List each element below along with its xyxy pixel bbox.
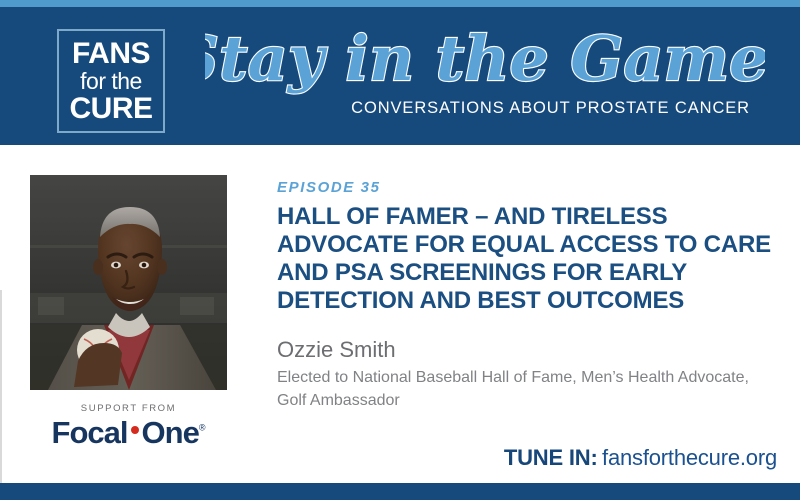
logo-line-one: FANS [72,39,150,69]
guest-description: Elected to National Baseball Hall of Fam… [277,367,757,412]
logo-line-two: for the [80,70,142,93]
sponsor-name-part-one: Focal [52,415,128,450]
tune-in-label: TUNE IN: [504,445,598,470]
sponsor-dot-icon [131,426,139,434]
content-body: SUPPORT FROM FocalOne® EPISODE 35 HALL O… [0,145,800,483]
left-border [0,290,2,500]
fans-for-the-cure-logo[interactable]: FANS for the CURE [57,29,165,133]
logo-line-three: CURE [69,94,152,124]
bottom-accent-strip [0,483,800,500]
top-accent-strip [0,0,800,7]
header-banner: FANS for the CURE Stay in the Game! CONV… [0,7,800,145]
episode-number-label: EPISODE 35 [277,179,381,196]
episode-headline: HALL OF FAMER – AND TIRELESS ADVOCATE FO… [277,203,777,315]
show-title-script: Stay in the Game! [205,17,765,103]
sponsor-name-part-two: One [142,415,199,450]
header-subtitle: CONVERSATIONS ABOUT PROSTATE CANCER [340,99,750,118]
svg-text:Stay in the Game!: Stay in the Game! [205,22,765,95]
focal-one-sponsor-logo[interactable]: FocalOne® [30,417,227,448]
support-from-label: SUPPORT FROM [30,403,227,414]
guest-name: Ozzie Smith [277,337,777,363]
tune-in-line: TUNE IN: fansforthecure.org [277,445,777,471]
registered-trademark-mark: ® [199,422,206,432]
guest-photo [30,175,227,390]
podcast-episode-card: FANS for the CURE Stay in the Game! CONV… [0,0,800,500]
website-url[interactable]: fansforthecure.org [602,445,777,470]
